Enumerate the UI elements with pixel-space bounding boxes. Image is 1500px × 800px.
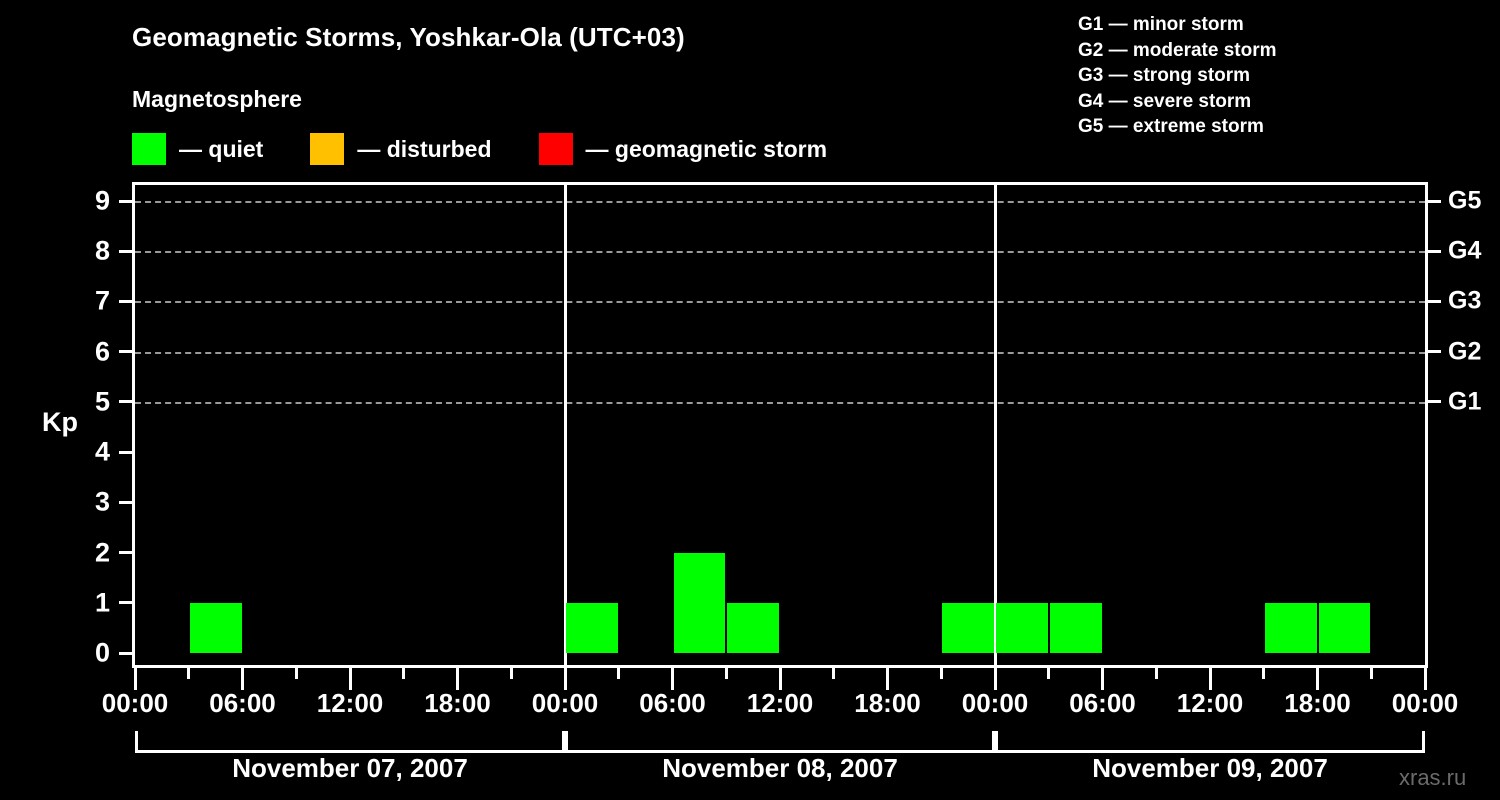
- x-axis-tick-minor: [510, 668, 513, 679]
- x-axis-tick-minor: [187, 668, 190, 679]
- g-axis-tick: [1428, 400, 1441, 403]
- day-label: November 09, 2007: [1092, 753, 1328, 784]
- chart-plot-area: [132, 182, 1428, 668]
- y-axis-label: 4: [14, 437, 110, 468]
- y-axis-tick: [119, 250, 132, 253]
- x-axis-label: 00:00: [1392, 688, 1459, 719]
- kp-bar: [727, 603, 779, 653]
- watermark: xras.ru: [1399, 765, 1466, 791]
- x-axis-tick-minor: [617, 668, 620, 679]
- x-axis-tick-major: [134, 668, 137, 690]
- kp-bar: [1050, 603, 1102, 653]
- x-axis-tick-minor: [1047, 668, 1050, 679]
- g-scale-entry: G4 — severe storm: [1078, 89, 1277, 115]
- x-axis-label: 00:00: [102, 688, 169, 719]
- g-scale-entry: G1 — minor storm: [1078, 12, 1277, 38]
- legend-item: — geomagnetic storm: [539, 133, 828, 165]
- x-axis-tick-major: [564, 668, 567, 690]
- x-axis-tick-minor: [1155, 668, 1158, 679]
- y-axis-label: 7: [14, 286, 110, 317]
- x-axis-label: 06:00: [639, 688, 706, 719]
- g-axis-tick: [1428, 200, 1441, 203]
- kp-bar: [190, 603, 242, 653]
- y-axis-tick: [119, 551, 132, 554]
- x-axis-tick-major: [1424, 668, 1427, 690]
- x-axis-tick-major: [241, 668, 244, 690]
- page-title: Geomagnetic Storms, Yoshkar-Ola (UTC+03): [132, 22, 685, 53]
- x-axis-tick-minor: [295, 668, 298, 679]
- red-square-icon: [539, 133, 573, 165]
- x-axis-label: 00:00: [962, 688, 1029, 719]
- x-axis-label: 00:00: [532, 688, 599, 719]
- g-axis-label: G3: [1448, 287, 1481, 316]
- y-axis-tick: [119, 200, 132, 203]
- g-axis-tick: [1428, 250, 1441, 253]
- legend-label: — quiet: [179, 136, 263, 163]
- gridline: [135, 251, 1425, 253]
- x-axis-label: 12:00: [747, 688, 814, 719]
- x-axis-tick-major: [994, 668, 997, 690]
- g-axis-tick: [1428, 300, 1441, 303]
- y-axis-label: 6: [14, 336, 110, 367]
- y-axis-label: 0: [14, 638, 110, 669]
- x-axis-label: 06:00: [1069, 688, 1136, 719]
- x-axis-label: 18:00: [424, 688, 491, 719]
- g-scale-entry: G5 — extreme storm: [1078, 114, 1277, 140]
- y-axis-tick: [119, 652, 132, 655]
- g-axis-label: G1: [1448, 387, 1481, 416]
- day-label: November 07, 2007: [232, 753, 468, 784]
- gridline: [135, 301, 1425, 303]
- gridline: [135, 402, 1425, 404]
- legend-label: — geomagnetic storm: [586, 136, 828, 163]
- day-bracket: [135, 731, 565, 753]
- x-axis-tick-minor: [1262, 668, 1265, 679]
- day-label: November 08, 2007: [662, 753, 898, 784]
- day-separator: [994, 185, 997, 665]
- kp-bar: [566, 603, 618, 653]
- y-axis-label: 2: [14, 537, 110, 568]
- g-axis-label: G5: [1448, 187, 1481, 216]
- g-scale-legend: G1 — minor stormG2 — moderate stormG3 — …: [1078, 12, 1277, 140]
- chart-subtitle: Magnetosphere: [132, 86, 302, 113]
- y-axis-label: 1: [14, 587, 110, 618]
- x-axis-tick-major: [779, 668, 782, 690]
- g-axis-label: G4: [1448, 237, 1481, 266]
- x-axis-tick-major: [349, 668, 352, 690]
- legend: — quiet— disturbed— geomagnetic storm: [132, 133, 874, 165]
- kp-bar: [1319, 603, 1371, 653]
- x-axis-tick-minor: [832, 668, 835, 679]
- y-axis-tick: [119, 400, 132, 403]
- g-axis-label: G2: [1448, 337, 1481, 366]
- y-axis-tick: [119, 350, 132, 353]
- y-axis-tick: [119, 601, 132, 604]
- x-axis-tick-major: [456, 668, 459, 690]
- x-axis-tick-major: [886, 668, 889, 690]
- legend-item: — quiet: [132, 133, 263, 165]
- legend-item: — disturbed: [310, 133, 491, 165]
- kp-bar: [942, 603, 994, 653]
- x-axis-label: 12:00: [317, 688, 384, 719]
- g-axis-tick: [1428, 350, 1441, 353]
- x-axis-label: 12:00: [1177, 688, 1244, 719]
- gridline: [135, 201, 1425, 203]
- amber-square-icon: [310, 133, 344, 165]
- x-axis-tick-major: [1316, 668, 1319, 690]
- kp-bar: [674, 553, 726, 653]
- g-scale-entry: G2 — moderate storm: [1078, 38, 1277, 64]
- x-axis-tick-major: [1101, 668, 1104, 690]
- y-axis-title: Kp: [42, 407, 78, 438]
- y-axis-label: 3: [14, 487, 110, 518]
- day-bracket: [565, 731, 995, 753]
- gridline: [135, 352, 1425, 354]
- y-axis-label: 9: [14, 186, 110, 217]
- y-axis-tick: [119, 501, 132, 504]
- x-axis-label: 18:00: [1284, 688, 1351, 719]
- x-axis-label: 06:00: [209, 688, 276, 719]
- x-axis-label: 18:00: [854, 688, 921, 719]
- x-axis-tick-minor: [402, 668, 405, 679]
- legend-label: — disturbed: [357, 136, 491, 163]
- x-axis-tick-minor: [725, 668, 728, 679]
- day-bracket: [995, 731, 1425, 753]
- x-axis-tick-minor: [1370, 668, 1373, 679]
- x-axis-tick-minor: [940, 668, 943, 679]
- green-square-icon: [132, 133, 166, 165]
- kp-bar: [1265, 603, 1317, 653]
- x-axis-tick-major: [1209, 668, 1212, 690]
- day-separator: [564, 185, 567, 665]
- y-axis-tick: [119, 451, 132, 454]
- g-scale-entry: G3 — strong storm: [1078, 63, 1277, 89]
- kp-bar: [996, 603, 1048, 653]
- x-axis-tick-major: [671, 668, 674, 690]
- y-axis-tick: [119, 300, 132, 303]
- y-axis-label: 8: [14, 236, 110, 267]
